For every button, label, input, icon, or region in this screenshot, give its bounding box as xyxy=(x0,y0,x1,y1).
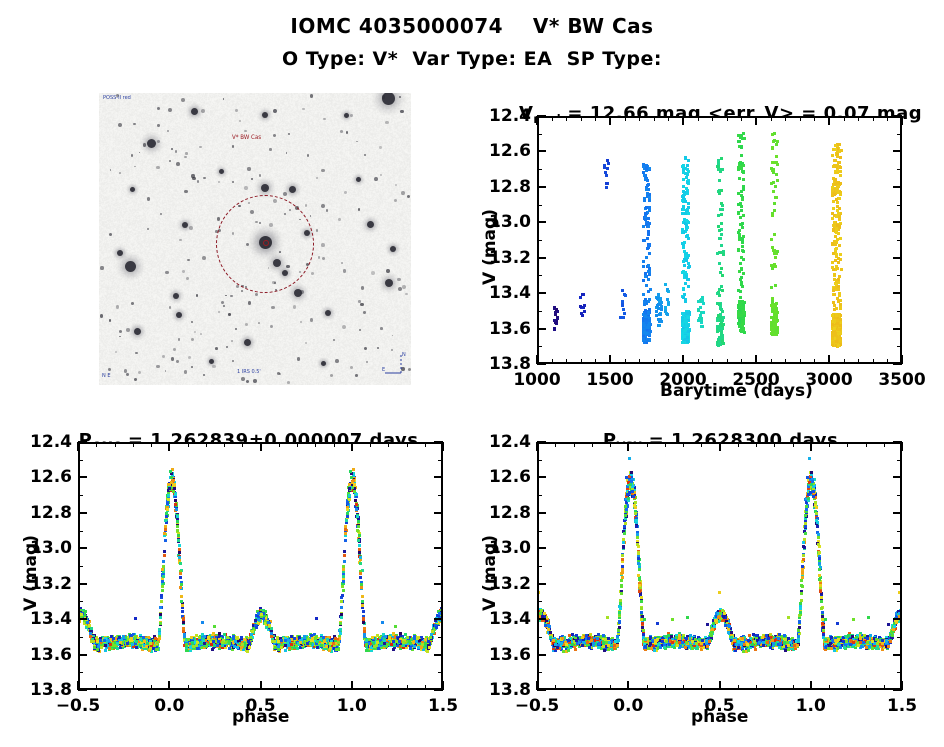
data-point xyxy=(346,502,349,505)
data-point xyxy=(131,643,134,646)
data-point xyxy=(172,484,175,487)
data-point xyxy=(687,170,690,173)
data-point xyxy=(135,646,138,649)
data-point xyxy=(365,649,368,652)
axis-tick xyxy=(654,359,655,364)
field-star xyxy=(197,180,199,182)
data-point xyxy=(126,642,129,645)
data-point xyxy=(719,170,722,173)
field-star xyxy=(316,177,318,179)
data-point xyxy=(581,314,584,317)
data-point xyxy=(346,515,349,518)
lightcurve-y-axis-title: V (mag) xyxy=(480,209,500,285)
data-point xyxy=(174,503,177,506)
data-point xyxy=(622,316,625,319)
data-point xyxy=(417,646,420,649)
field-star xyxy=(118,123,122,127)
data-point xyxy=(686,256,689,259)
data-point xyxy=(356,529,359,532)
data-point xyxy=(831,242,834,245)
data-point xyxy=(773,202,776,205)
data-point xyxy=(646,184,649,187)
survey-label: POSS-II red xyxy=(103,95,131,101)
data-point xyxy=(116,647,119,650)
data-point xyxy=(642,337,645,340)
field-star xyxy=(269,148,271,150)
data-point xyxy=(838,225,841,228)
data-point xyxy=(183,633,186,636)
field-star xyxy=(355,374,358,377)
axis-tick xyxy=(698,359,699,364)
y-tick-label: 13.6 xyxy=(479,319,531,339)
axis-tick xyxy=(893,257,902,259)
data-point xyxy=(354,499,357,502)
data-point xyxy=(236,646,239,649)
field-star xyxy=(321,204,325,208)
data-point xyxy=(774,303,777,306)
data-point xyxy=(771,331,774,334)
axis-tick xyxy=(893,221,902,223)
field-star xyxy=(165,271,168,274)
data-point xyxy=(298,636,301,639)
data-point xyxy=(741,323,744,326)
field-star xyxy=(323,118,325,120)
data-point xyxy=(358,548,361,551)
data-point xyxy=(839,170,842,173)
data-point xyxy=(325,645,328,648)
data-point xyxy=(718,325,721,328)
axis-tick xyxy=(893,150,902,152)
data-point xyxy=(718,294,721,297)
data-point xyxy=(834,144,837,147)
data-point xyxy=(226,636,229,639)
field-star xyxy=(241,290,243,292)
data-point xyxy=(742,272,745,275)
data-point xyxy=(180,595,183,598)
data-point xyxy=(352,479,355,482)
data-point xyxy=(341,585,344,588)
data-point xyxy=(831,189,834,192)
data-point xyxy=(657,293,660,296)
data-point xyxy=(621,289,624,292)
field-star xyxy=(241,377,245,381)
data-point xyxy=(742,164,745,167)
axis-tick xyxy=(755,355,757,364)
field-star xyxy=(322,257,325,260)
data-point xyxy=(666,313,669,316)
data-point xyxy=(720,222,723,225)
axis-tick xyxy=(897,346,902,347)
data-point xyxy=(742,132,745,135)
data-point xyxy=(176,525,179,528)
data-point xyxy=(442,612,443,615)
data-point xyxy=(740,190,743,193)
x-tick-label: 1500 xyxy=(582,370,638,390)
data-point xyxy=(642,239,645,242)
data-point xyxy=(180,600,183,603)
data-point xyxy=(775,320,778,323)
data-point xyxy=(339,628,342,631)
axis-tick xyxy=(639,359,640,364)
data-point xyxy=(159,622,162,625)
data-point xyxy=(836,238,839,241)
field-star xyxy=(182,222,188,228)
data-point xyxy=(361,604,364,607)
data-point xyxy=(413,645,416,648)
data-point xyxy=(687,159,690,162)
data-point xyxy=(702,311,705,314)
field-star xyxy=(262,112,268,118)
data-point xyxy=(161,589,164,592)
data-point xyxy=(240,646,243,649)
data-point xyxy=(717,225,720,228)
field-star xyxy=(385,121,388,124)
data-point xyxy=(348,498,351,501)
data-point xyxy=(196,647,199,650)
data-point xyxy=(774,324,777,327)
data-point xyxy=(686,340,689,343)
data-point xyxy=(644,178,647,181)
data-point xyxy=(642,293,645,296)
data-point xyxy=(582,293,585,296)
axis-tick xyxy=(537,186,546,188)
axis-tick xyxy=(727,116,728,121)
data-point xyxy=(773,209,776,212)
data-point xyxy=(357,520,360,523)
data-point xyxy=(681,165,684,168)
field-star xyxy=(169,160,171,162)
field-star xyxy=(200,333,202,335)
data-point xyxy=(166,508,169,511)
data-point xyxy=(642,265,645,268)
data-point xyxy=(831,217,834,220)
axis-tick xyxy=(595,359,596,364)
data-point xyxy=(554,311,557,314)
data-point xyxy=(837,232,840,235)
data-point xyxy=(341,594,344,597)
axis-tick xyxy=(581,116,582,121)
axis-tick xyxy=(858,359,859,364)
data-point xyxy=(833,287,836,290)
axis-tick xyxy=(682,355,684,364)
data-point xyxy=(161,585,164,588)
data-point xyxy=(158,628,161,631)
data-point xyxy=(742,250,745,253)
data-point xyxy=(644,315,647,318)
data-point xyxy=(100,646,103,649)
data-point xyxy=(181,610,184,613)
data-point xyxy=(168,487,171,490)
data-point xyxy=(685,228,688,231)
axis-tick xyxy=(828,355,830,364)
data-point xyxy=(647,300,650,303)
axis-tick xyxy=(800,116,801,121)
data-point xyxy=(835,189,838,192)
axis-tick xyxy=(537,115,546,117)
axis-tick xyxy=(639,116,640,121)
data-point xyxy=(624,294,627,297)
data-point xyxy=(741,222,744,225)
data-point xyxy=(738,165,741,168)
data-point xyxy=(363,633,366,636)
data-point xyxy=(684,167,687,170)
data-point xyxy=(720,213,723,216)
field-star xyxy=(380,174,382,176)
field-star xyxy=(116,305,119,308)
data-point xyxy=(681,341,684,344)
data-point xyxy=(643,197,646,200)
data-point xyxy=(832,177,835,180)
data-point xyxy=(441,612,443,615)
axis-tick xyxy=(712,359,713,364)
data-point xyxy=(832,341,835,344)
field-star xyxy=(189,226,193,230)
data-point xyxy=(742,171,745,174)
data-point xyxy=(441,612,443,615)
field-star xyxy=(160,213,162,215)
data-point xyxy=(642,260,645,263)
field-star xyxy=(333,339,335,341)
data-point xyxy=(241,643,244,646)
data-point xyxy=(739,303,742,306)
field-star xyxy=(340,130,343,133)
data-point xyxy=(359,572,362,575)
data-point xyxy=(740,283,743,286)
axis-tick xyxy=(609,355,611,364)
data-point xyxy=(839,156,842,159)
field-star xyxy=(294,289,302,297)
data-point xyxy=(163,532,166,535)
data-point xyxy=(179,576,182,579)
data-point xyxy=(836,319,839,322)
data-point xyxy=(771,147,774,150)
data-point xyxy=(89,635,92,638)
field-star xyxy=(134,328,141,335)
data-point xyxy=(177,539,180,542)
field-star xyxy=(209,359,214,364)
axis-tick xyxy=(893,186,902,188)
data-point xyxy=(165,515,168,518)
data-point xyxy=(644,298,647,301)
axis-tick xyxy=(893,328,902,330)
field-star xyxy=(359,329,361,331)
field-star xyxy=(385,279,393,287)
axis-tick xyxy=(566,359,567,364)
data-point xyxy=(642,279,645,282)
data-point xyxy=(358,534,361,537)
data-point xyxy=(441,610,443,613)
data-point xyxy=(686,181,689,184)
axis-tick xyxy=(537,240,542,241)
data-point xyxy=(685,176,688,179)
axis-tick xyxy=(785,359,786,364)
data-point xyxy=(836,267,839,270)
data-point xyxy=(179,572,182,575)
data-point xyxy=(776,179,779,182)
data-point xyxy=(832,207,835,210)
data-point xyxy=(834,248,837,251)
data-point xyxy=(442,613,443,616)
field-star xyxy=(258,322,260,324)
field-star xyxy=(401,191,405,195)
axis-tick xyxy=(537,150,546,152)
data-point xyxy=(834,332,837,335)
data-point xyxy=(218,632,221,635)
data-point xyxy=(249,636,252,639)
field-star xyxy=(176,312,182,318)
axis-tick xyxy=(682,116,684,125)
data-point xyxy=(686,234,689,237)
data-point xyxy=(163,554,166,557)
field-star xyxy=(100,266,103,269)
data-point xyxy=(839,324,842,327)
data-point xyxy=(603,166,606,169)
data-point xyxy=(174,493,177,496)
data-point xyxy=(622,308,625,311)
iomc-summary-page: IOMC 4035000074 V* BW Cas O Type: V* Var… xyxy=(0,0,944,747)
data-point xyxy=(720,189,723,192)
data-point xyxy=(687,285,690,288)
field-star xyxy=(201,109,205,113)
data-point xyxy=(839,306,842,309)
field-star xyxy=(289,186,296,193)
field-star xyxy=(253,379,257,383)
data-point xyxy=(361,600,364,603)
data-point xyxy=(739,296,742,299)
data-point xyxy=(342,589,345,592)
data-point xyxy=(742,310,745,313)
field-star xyxy=(173,348,176,351)
data-point xyxy=(831,154,834,157)
data-point xyxy=(167,483,170,486)
data-point xyxy=(96,648,99,651)
axis-tick xyxy=(901,116,903,125)
data-point xyxy=(605,186,608,189)
data-point xyxy=(740,281,743,284)
data-point xyxy=(623,312,626,315)
data-point xyxy=(647,326,650,329)
data-point xyxy=(359,576,362,579)
data-point xyxy=(118,636,121,639)
data-point xyxy=(743,331,746,334)
data-point xyxy=(320,644,323,647)
data-point xyxy=(255,626,258,629)
data-point xyxy=(682,260,685,263)
orientation-label: N E xyxy=(102,373,111,379)
y-tick-label: 13.4 xyxy=(479,283,531,303)
axis-tick xyxy=(537,134,542,135)
data-point xyxy=(645,188,648,191)
data-point xyxy=(774,310,777,313)
data-point xyxy=(167,498,170,501)
axis-tick xyxy=(741,359,742,364)
axis-tick xyxy=(897,240,902,241)
data-point xyxy=(621,304,624,307)
data-point xyxy=(742,188,745,191)
data-point xyxy=(343,554,346,557)
data-point xyxy=(172,479,175,482)
data-point xyxy=(442,614,443,617)
field-star xyxy=(270,325,273,328)
data-point xyxy=(348,487,351,490)
data-point xyxy=(139,644,142,647)
axis-tick xyxy=(844,359,845,364)
data-point xyxy=(776,250,779,253)
data-point xyxy=(682,296,685,299)
axis-tick xyxy=(537,169,542,170)
data-point xyxy=(719,317,722,320)
field-star xyxy=(361,286,364,289)
data-point xyxy=(149,647,152,650)
axis-tick xyxy=(873,359,874,364)
data-point xyxy=(837,285,840,288)
axis-tick xyxy=(873,116,874,121)
data-point xyxy=(213,644,216,647)
data-point xyxy=(686,336,689,339)
data-point xyxy=(838,217,841,220)
field-star xyxy=(335,359,339,363)
data-point xyxy=(306,642,309,645)
data-point xyxy=(740,268,743,271)
data-point xyxy=(228,647,231,650)
field-star xyxy=(382,93,395,105)
data-point xyxy=(646,339,649,342)
data-point xyxy=(643,303,646,306)
data-point xyxy=(201,621,204,624)
data-point xyxy=(316,646,319,649)
field-star xyxy=(358,208,360,210)
data-point xyxy=(311,643,314,646)
data-point xyxy=(685,187,688,190)
data-point xyxy=(834,148,837,151)
axis-tick xyxy=(581,359,582,364)
y-tick-label: 13.8 xyxy=(479,354,531,374)
data-point xyxy=(648,167,651,170)
data-point xyxy=(739,290,742,293)
field-star xyxy=(175,150,177,152)
data-point xyxy=(134,635,137,638)
field-star xyxy=(212,365,215,368)
data-point xyxy=(553,306,556,309)
field-star xyxy=(235,109,238,112)
data-point xyxy=(839,174,842,177)
data-point xyxy=(355,503,358,506)
object-classification-line: O Type: V* Var Type: EA SP Type: xyxy=(0,48,944,70)
data-point xyxy=(838,244,841,247)
data-point xyxy=(721,334,724,337)
data-point xyxy=(837,181,840,184)
axis-tick xyxy=(800,359,801,364)
data-point xyxy=(345,519,348,522)
axis-tick xyxy=(537,205,542,206)
y-tick-label: 12.4 xyxy=(479,106,531,126)
data-point xyxy=(840,149,843,152)
field-star xyxy=(364,347,367,350)
data-point xyxy=(687,202,690,205)
data-point xyxy=(738,177,741,180)
axis-tick xyxy=(897,134,902,135)
data-point xyxy=(836,209,839,212)
data-point xyxy=(644,212,647,215)
data-point xyxy=(740,154,743,157)
data-point xyxy=(739,262,742,265)
scalebar-label: 1 IRS 0.5' xyxy=(237,369,261,375)
data-point xyxy=(770,182,773,185)
data-point xyxy=(720,157,723,160)
field-star xyxy=(318,256,321,259)
field-star xyxy=(316,229,318,231)
field-star xyxy=(321,243,325,247)
